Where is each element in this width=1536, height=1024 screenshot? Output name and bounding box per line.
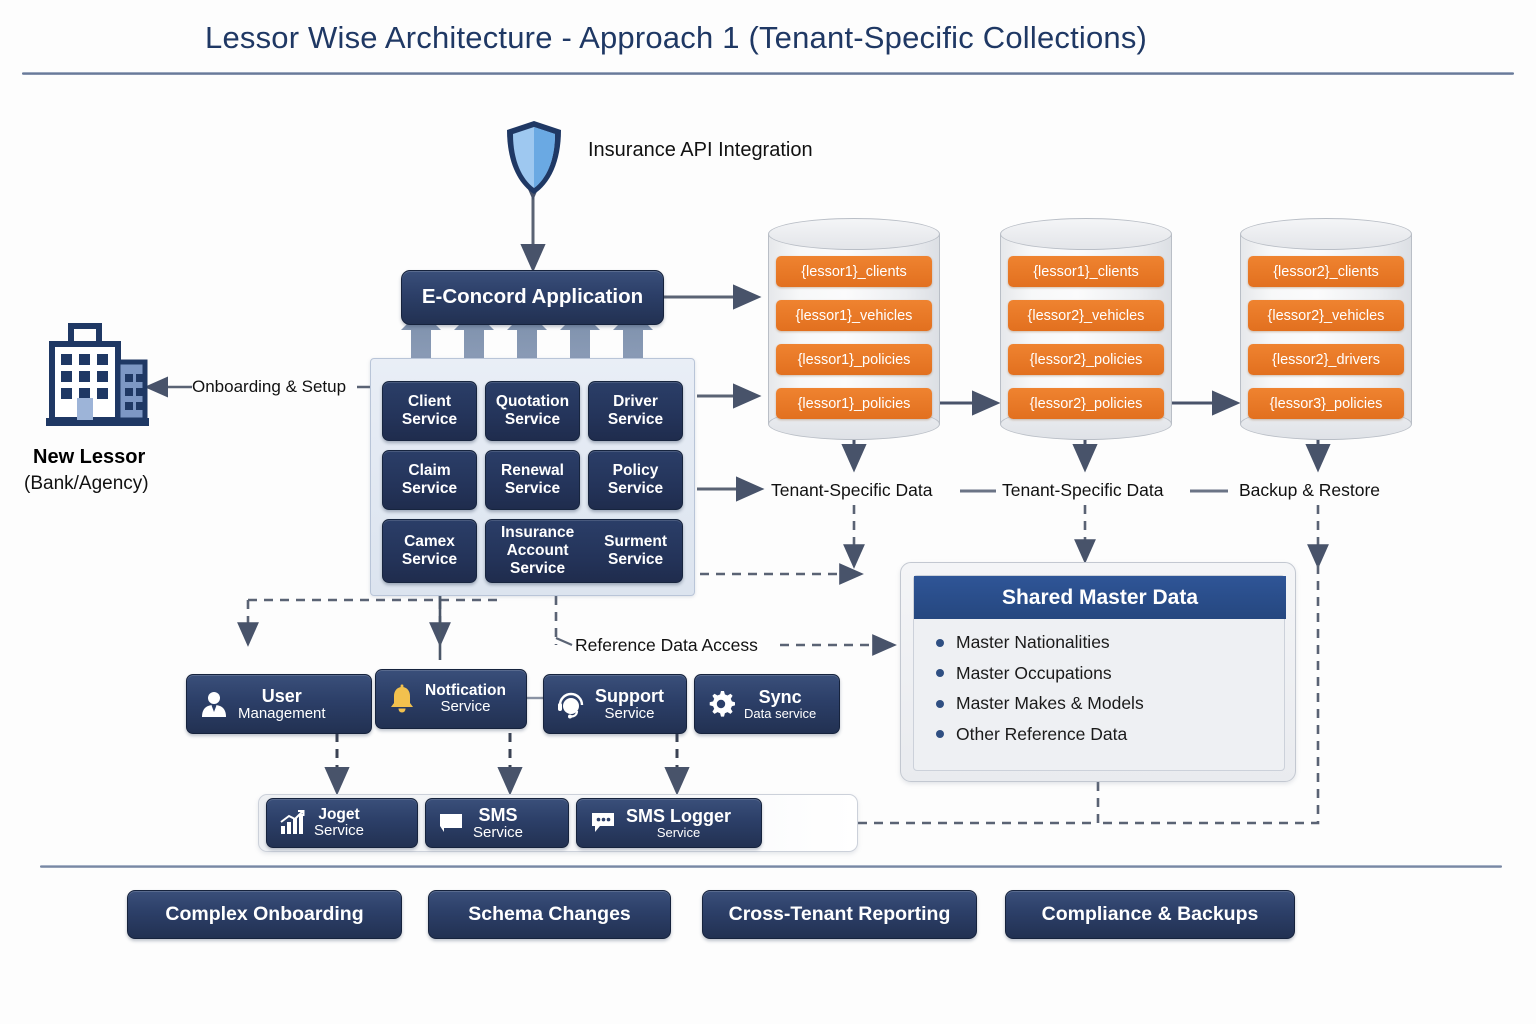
shared-master-data-list: Master Nationalities Master Occupations … bbox=[936, 632, 1276, 754]
service-label-line2: Service bbox=[505, 480, 560, 498]
service-label-line1: Surment bbox=[604, 533, 667, 551]
new-lessor-subtitle: (Bank/Agency) bbox=[24, 473, 149, 495]
service-label-line3: Service bbox=[501, 560, 574, 578]
bell-icon bbox=[388, 684, 416, 714]
cylinder-top bbox=[1240, 218, 1412, 250]
list-item-label: Other Reference Data bbox=[956, 724, 1127, 745]
collection-chip[interactable]: {lessor1}_clients bbox=[1008, 256, 1164, 287]
e-concord-application-box[interactable]: E-Concord Application bbox=[401, 270, 664, 325]
cylinder-top bbox=[768, 218, 940, 250]
edge-refaccess-corner bbox=[556, 638, 572, 645]
service-label-line1: User bbox=[238, 686, 326, 706]
service-label-line1: Quotation bbox=[496, 393, 569, 411]
service-label-line2: Service bbox=[314, 823, 364, 840]
gear-icon bbox=[707, 690, 735, 718]
service-label-line2: Account bbox=[501, 542, 574, 560]
headset-icon bbox=[556, 689, 586, 719]
bullet-icon bbox=[936, 639, 944, 647]
collection-chip[interactable]: {lessor2}_vehicles bbox=[1008, 300, 1164, 331]
bullet-icon bbox=[936, 730, 944, 738]
cylinder-top bbox=[1000, 218, 1172, 250]
service-label-line2: Service bbox=[604, 551, 667, 569]
service-label-line2: Service bbox=[595, 706, 664, 723]
database-cylinder-lessor2[interactable]: {lessor1}_clients {lessor2}_vehicles {le… bbox=[1000, 218, 1172, 436]
service-label-line1: Client bbox=[408, 393, 451, 411]
service-label-line1: Driver bbox=[613, 393, 658, 411]
collection-chip[interactable]: {lessor2}_policies bbox=[1008, 344, 1164, 375]
service-sync-data[interactable]: Sync Data service bbox=[694, 674, 840, 734]
service-text: Joget Service bbox=[314, 806, 364, 840]
office-building-icon bbox=[33, 318, 149, 434]
list-item: Master Nationalities bbox=[936, 632, 1276, 653]
service-text: Support Service bbox=[595, 686, 664, 723]
tenant-specific-data-label-1: Tenant-Specific Data bbox=[771, 480, 932, 501]
backup-restore-label: Backup & Restore bbox=[1239, 480, 1380, 501]
reference-data-access-label: Reference Data Access bbox=[575, 635, 758, 656]
service-label-line1: Sync bbox=[744, 687, 816, 707]
bullet-icon bbox=[936, 700, 944, 708]
service-label-line1: Policy bbox=[613, 462, 659, 480]
concern-schema-changes[interactable]: Schema Changes bbox=[428, 890, 671, 939]
shield-icon bbox=[503, 118, 565, 198]
shared-master-data-header: Shared Master Data bbox=[914, 576, 1286, 619]
collection-chip[interactable]: {lessor1}_clients bbox=[776, 256, 932, 287]
bar-chart-icon bbox=[279, 810, 305, 836]
collection-chip[interactable]: {lessor1}_policies bbox=[776, 344, 932, 375]
list-item: Master Makes & Models bbox=[936, 693, 1276, 714]
service-label-line1: Claim bbox=[408, 462, 450, 480]
service-label-line2: Service bbox=[608, 480, 663, 498]
database-cylinder-lessor3[interactable]: {lessor2}_clients {lessor2}_vehicles {le… bbox=[1240, 218, 1412, 436]
service-label-line2: Service bbox=[473, 825, 523, 842]
service-text: SMS Logger Service bbox=[626, 806, 731, 841]
service-driver[interactable]: Driver Service bbox=[588, 381, 683, 441]
shared-master-data-inner: Shared Master Data Master Nationalities … bbox=[913, 575, 1285, 771]
service-joget[interactable]: Joget Service bbox=[266, 798, 418, 848]
service-notification[interactable]: Notfication Service bbox=[375, 669, 527, 729]
service-surment[interactable]: Surment Service bbox=[604, 533, 667, 569]
service-user-management[interactable]: User Management bbox=[186, 674, 372, 734]
diagram-canvas: Lessor Wise Architecture - Approach 1 (T… bbox=[0, 0, 1536, 1024]
insurance-api-label: Insurance API Integration bbox=[588, 139, 813, 162]
service-text: Notfication Service bbox=[425, 682, 506, 716]
bullet-icon bbox=[936, 669, 944, 677]
service-sms[interactable]: SMS Service bbox=[425, 798, 569, 848]
user-icon bbox=[199, 689, 229, 719]
service-label-line1: Renewal bbox=[501, 462, 564, 480]
onboarding-setup-label: Onboarding & Setup bbox=[192, 377, 346, 397]
collection-chip[interactable]: {lessor2}_vehicles bbox=[1248, 300, 1404, 331]
service-quotation[interactable]: Quotation Service bbox=[485, 381, 580, 441]
speech-tag-icon bbox=[438, 811, 464, 835]
service-client[interactable]: Client Service bbox=[382, 381, 477, 441]
service-claim[interactable]: Claim Service bbox=[382, 450, 477, 510]
concern-compliance-backups[interactable]: Compliance & Backups bbox=[1005, 890, 1295, 939]
service-text: User Management bbox=[238, 686, 326, 723]
service-label-line2: Service bbox=[608, 411, 663, 429]
service-label-line2: Service bbox=[505, 411, 560, 429]
service-label-line2: Service bbox=[402, 411, 457, 429]
chat-bubble-icon bbox=[589, 811, 617, 835]
service-label-line1: Notfication bbox=[425, 682, 506, 699]
service-label-line2: Management bbox=[238, 706, 326, 723]
collection-chip[interactable]: {lessor2}_drivers bbox=[1248, 344, 1404, 375]
concern-complex-onboarding[interactable]: Complex Onboarding bbox=[127, 890, 402, 939]
service-insurance-account-surment-group[interactable]: Insurance Account Service Surment Servic… bbox=[485, 519, 683, 583]
database-cylinder-lessor1[interactable]: {lessor1}_clients {lessor1}_vehicles {le… bbox=[768, 218, 940, 436]
list-item: Other Reference Data bbox=[936, 724, 1276, 745]
service-label-line1: Joget bbox=[314, 806, 364, 823]
list-item: Master Occupations bbox=[936, 663, 1276, 684]
service-label-line2: Service bbox=[425, 699, 506, 716]
list-item-label: Master Occupations bbox=[956, 663, 1112, 684]
service-text: SMS Service bbox=[473, 805, 523, 842]
service-label-line2: Service bbox=[626, 826, 731, 841]
shared-master-data-panel: Shared Master Data Master Nationalities … bbox=[900, 562, 1296, 782]
service-label-line1: Insurance bbox=[501, 524, 574, 542]
collection-chip[interactable]: {lessor3}_policies bbox=[1248, 388, 1404, 419]
service-label-line1: SMS bbox=[473, 805, 523, 825]
new-lessor-name: New Lessor bbox=[33, 446, 145, 469]
service-camex[interactable]: Camex Service bbox=[382, 519, 477, 583]
service-insurance-account[interactable]: Insurance Account Service bbox=[501, 524, 574, 578]
service-label-line1: Camex bbox=[404, 533, 455, 551]
service-label-line2: Data service bbox=[744, 707, 816, 722]
collection-chip[interactable]: {lessor1}_policies bbox=[776, 388, 932, 419]
service-label-line2: Service bbox=[402, 480, 457, 498]
collection-chip[interactable]: {lessor2}_clients bbox=[1248, 256, 1404, 287]
collection-chip[interactable]: {lessor2}_policies bbox=[1008, 388, 1164, 419]
service-label-line2: Service bbox=[402, 551, 457, 569]
list-item-label: Master Makes & Models bbox=[956, 693, 1144, 714]
service-support[interactable]: Support Service bbox=[543, 674, 687, 734]
service-policy[interactable]: Policy Service bbox=[588, 450, 683, 510]
concern-cross-tenant-reporting[interactable]: Cross-Tenant Reporting bbox=[702, 890, 977, 939]
service-label-line1: SMS Logger bbox=[626, 806, 731, 826]
service-text: Sync Data service bbox=[744, 687, 816, 722]
tenant-specific-data-label-2: Tenant-Specific Data bbox=[1002, 480, 1163, 501]
service-renewal[interactable]: Renewal Service bbox=[485, 450, 580, 510]
list-item-label: Master Nationalities bbox=[956, 632, 1110, 653]
service-label-line1: Support bbox=[595, 686, 664, 706]
collection-chip[interactable]: {lessor1}_vehicles bbox=[776, 300, 932, 331]
service-sms-logger[interactable]: SMS Logger Service bbox=[576, 798, 762, 848]
